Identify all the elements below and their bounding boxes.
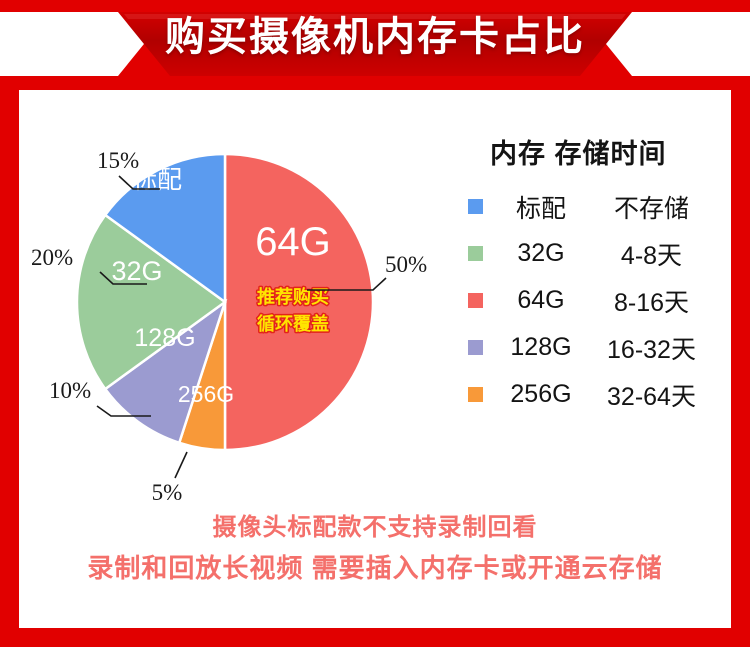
pct-label-50: 50% [385, 252, 427, 277]
legend-time-32g: 4-8天 [585, 236, 718, 272]
pct-label-5: 5% [152, 480, 183, 505]
legend-row-64g[interactable]: 64G 8-16天 [468, 277, 718, 324]
legend-memory-256g: 256G [497, 380, 585, 409]
recommendation-line-2: 循环覆盖 [257, 313, 329, 334]
pct-label-15: 15% [97, 148, 139, 173]
pie-label-64g: 64G [255, 220, 331, 264]
leader-line-5 [175, 452, 187, 478]
legend: 内存 存储时间 标配 不存储 32G 4-8天 64G 8-16天 128G 1… [468, 132, 718, 418]
legend-swatch-standard [468, 199, 483, 214]
footer-note: 摄像头标配款不支持录制回看 录制和回放长视频 需要插入内存卡或开通云存储 [19, 508, 731, 588]
legend-row-128g[interactable]: 128G 16-32天 [468, 324, 718, 371]
legend-memory-32g: 32G [497, 239, 585, 268]
legend-swatch-64g [468, 293, 483, 308]
legend-row-32g[interactable]: 32G 4-8天 [468, 230, 718, 277]
legend-swatch-128g [468, 340, 483, 355]
pie-chart-svg: 标配 32G 128G 256G 64G 推荐购买 循环覆盖 15% 20% 5… [19, 90, 439, 510]
footer-note-line-1: 摄像头标配款不支持录制回看 [19, 508, 731, 548]
title-banner: 购买摄像机内存卡占比 [0, 0, 750, 90]
legend-header-memory: 内存 [490, 139, 546, 169]
legend-memory-128g: 128G [497, 333, 585, 362]
pie-chart: 标配 32G 128G 256G 64G 推荐购买 循环覆盖 15% 20% 5… [19, 90, 439, 510]
legend-header-time: 存储时间 [555, 139, 667, 169]
pct-label-20: 20% [31, 245, 73, 270]
legend-row-standard[interactable]: 标配 不存储 [468, 183, 718, 230]
legend-row-256g[interactable]: 256G 32-64天 [468, 371, 718, 418]
legend-header: 内存 存储时间 [490, 132, 718, 171]
legend-time-256g: 32-64天 [585, 377, 718, 413]
infographic-root: 购买摄像机内存卡占比 标配 32G 128G 256G 64G 推荐购买 循环覆 [0, 0, 750, 647]
legend-memory-standard: 标配 [497, 189, 585, 225]
page-title: 购买摄像机内存卡占比 [0, 7, 750, 67]
footer-note-line-2: 录制和回放长视频 需要插入内存卡或开通云存储 [19, 548, 731, 588]
legend-swatch-32g [468, 246, 483, 261]
recommendation-line-1: 推荐购买 [257, 286, 329, 307]
pie-label-32g: 32G [111, 256, 162, 286]
legend-time-standard: 不存储 [585, 189, 718, 225]
legend-time-128g: 16-32天 [585, 330, 718, 366]
legend-swatch-256g [468, 387, 483, 402]
pie-label-256g: 256G [178, 381, 234, 407]
pct-label-10: 10% [49, 378, 91, 403]
legend-time-64g: 8-16天 [585, 283, 718, 319]
pie-label-128g: 128G [134, 324, 195, 352]
legend-memory-64g: 64G [497, 286, 585, 315]
